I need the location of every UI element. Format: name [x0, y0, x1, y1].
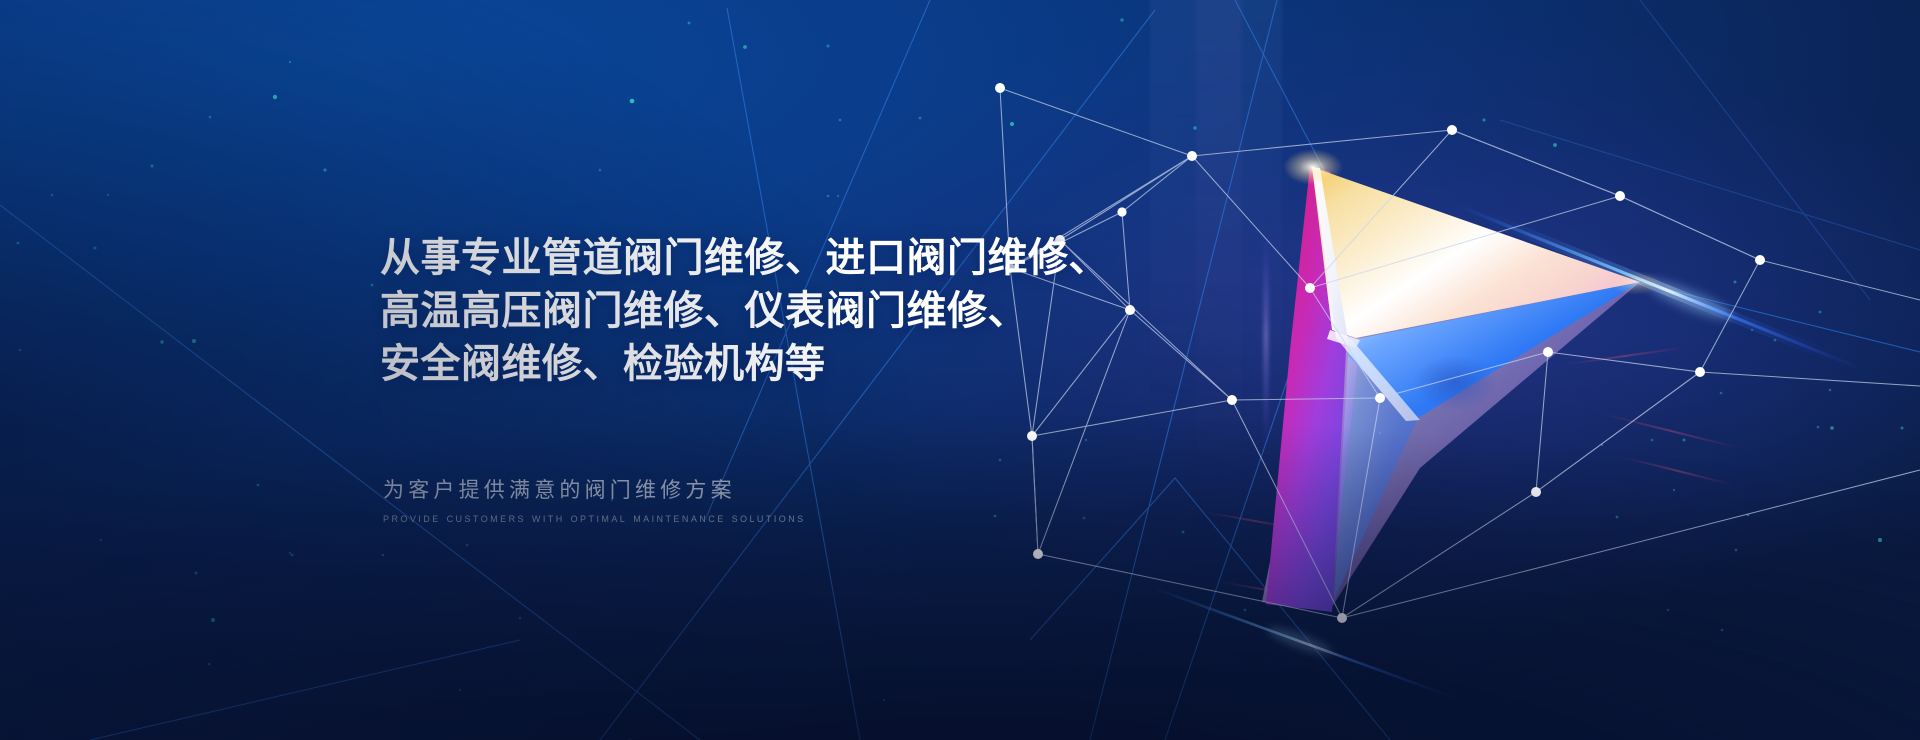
- background-vignette: [0, 0, 1920, 740]
- hero-banner: 从事专业管道阀门维修、进口阀门维修、 高温高压阀门维修、仪表阀门维修、 安全阀维…: [0, 0, 1920, 740]
